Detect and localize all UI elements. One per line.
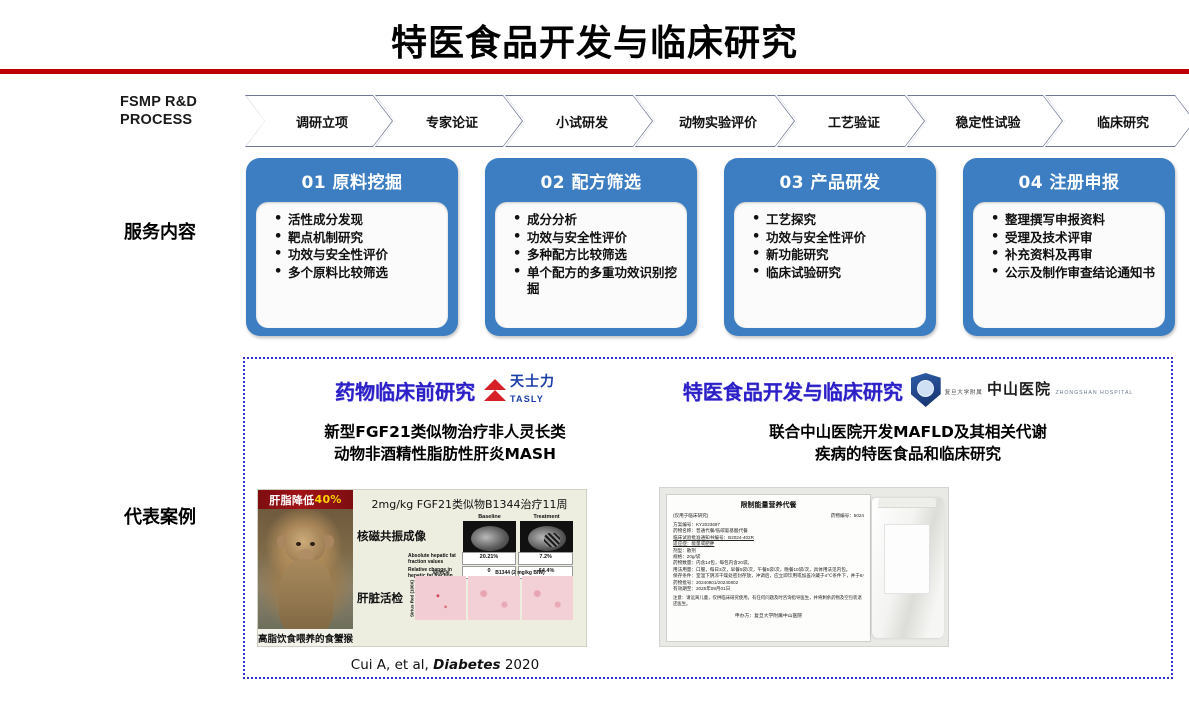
services-label: 服务内容: [124, 218, 196, 244]
histology-treated-2: [522, 576, 573, 620]
list-item: 补充资料及再审: [995, 247, 1159, 264]
pouch-label: [884, 524, 930, 594]
list-item: 受理及技术评审: [995, 230, 1159, 247]
slide-root: 特医食品开发与临床研究 FSMP R&D PROCESS 调研立项 专家论证 小…: [0, 0, 1189, 707]
case-left-figure[interactable]: 肝脂降低40% 高脂饮食喂养的食蟹猴 2mg/kg FGF21类似物B1344治…: [257, 489, 587, 647]
case-left-citation: Cui A, et al, Diabetes 2020: [245, 657, 645, 673]
monkey-photo-panel: 肝脂降低40% 高脂饮食喂养的食蟹猴: [258, 490, 353, 646]
list-item: 多个原料比较筛选: [278, 265, 442, 282]
biopsy-row-label: 肝脏活检: [357, 590, 403, 606]
service-card-title: 02 配方筛选: [485, 168, 697, 193]
case-right-header: 特医食品开发与临床研究 复旦大学附属 中山医院 ZHONGSHAN HOSPIT…: [645, 369, 1171, 411]
service-card-title: 01 原料挖掘: [246, 168, 458, 193]
process-step-2[interactable]: 专家论证: [375, 95, 523, 147]
histology-vehicle: [415, 576, 466, 620]
tasly-logo-en: TASLY: [510, 394, 544, 404]
process-step-label: 小试研发: [505, 95, 653, 147]
document-right-note: 药物编号：5024: [831, 513, 864, 519]
hospital-name-en: ZHONGSHAN HOSPITAL: [1055, 390, 1133, 396]
process-step-6[interactable]: 稳定性试验: [907, 95, 1063, 147]
row-label: Absolute hepatic fat fraction values: [408, 552, 460, 565]
banner-percent: 40%: [314, 493, 341, 506]
list-item: 多种配方比较筛选: [517, 247, 681, 264]
service-card-04[interactable]: 04 注册申报 整理撰写申报资料 受理及技术评审 补充资料及再审 公示及制作审查…: [963, 158, 1175, 336]
list-item: 成分分析: [517, 212, 681, 229]
zhongshan-hospital-logo: 复旦大学附属 中山医院 ZHONGSHAN HOSPITAL: [911, 373, 1134, 407]
case-right-subtitle-line2: 疾病的特医食品和临床研究: [653, 443, 1163, 465]
citation-journal: Diabetes: [433, 657, 500, 673]
process-step-5[interactable]: 工艺验证: [777, 95, 925, 147]
service-card-03[interactable]: 03 产品研发 工艺探究 功效与安全性评价 新功能研究 临床试验研究: [724, 158, 936, 336]
service-card-body: 工艺探究 功效与安全性评价 新功能研究 临床试验研究: [734, 202, 926, 328]
mri-biopsy-panel: 2mg/kg FGF21类似物B1344治疗11周 核磁共振成像 肝脏活检 Ba…: [353, 490, 586, 646]
document-line: 有效期至：2025年08月01日: [673, 586, 864, 592]
list-item: 工艺探究: [756, 212, 920, 229]
process-step-label: 专家论证: [375, 95, 523, 147]
process-step-label: 调研立项: [245, 95, 393, 147]
photo-caption: 高脂饮食喂养的食蟹猴: [258, 629, 353, 646]
document-line: 保存条件：室温下阴凉干燥处密封存放，冲调后，应立即饮用或加盖冷藏于4℃条件下，并…: [673, 573, 864, 579]
mri-header-baseline: Baseline: [463, 514, 516, 520]
histology-images: [415, 576, 573, 620]
case-left-subtitle: 新型FGF21类似物治疗非人灵长类 动物非酒精性脂肪性肝炎MASH: [253, 421, 637, 465]
service-card-title: 04 注册申报: [963, 168, 1175, 193]
document-title: 限制能量营养代餐: [673, 500, 864, 510]
case-right-subtitle: 联合中山医院开发MAFLD及其相关代谢 疾病的特医食品和临床研究: [653, 421, 1163, 465]
cases-label: 代表案例: [124, 503, 196, 529]
mri-row-label: 核磁共振成像: [357, 528, 426, 544]
shield-icon: [911, 373, 941, 407]
case-left: 药物临床前研究 天士力 TASLY 新型FGF21类似物治疗非人灵长类 动物非酒…: [245, 359, 645, 681]
service-card-01[interactable]: 01 原料挖掘 活性成分发现 靶点机制研究 功效与安全性评价 多个原料比较筛选: [246, 158, 458, 336]
banner-text: 肝脂降低: [269, 492, 314, 508]
list-item: 公示及制作审查结论通知书: [995, 265, 1159, 282]
process-step-label: 动物实验评价: [635, 95, 795, 147]
document-left-note: (仅用于临床研究): [673, 513, 708, 519]
list-item: 单个配方的多重功效识别挖掘: [517, 265, 681, 298]
list-item: 新功能研究: [756, 247, 920, 264]
tasly-triangle-icon: [483, 379, 507, 401]
service-card-title: 03 产品研发: [724, 168, 936, 193]
process-label-line1: FSMP R&D: [120, 93, 250, 111]
service-cards: 01 原料挖掘 活性成分发现 靶点机制研究 功效与安全性评价 多个原料比较筛选 …: [246, 158, 1176, 336]
case-right-heading: 特医食品开发与临床研究: [683, 376, 903, 405]
process-flow: 调研立项 专家论证 小试研发 动物实验评价 工艺验证 稳定性试验: [245, 95, 1175, 147]
tasly-logo: 天士力 TASLY: [483, 374, 555, 406]
product-label-document: 限制能量营养代餐 (仅用于临床研究) 药物编号：5024 方案编号：KY2023…: [666, 494, 871, 642]
list-item: 功效与安全性评价: [517, 230, 681, 247]
document-warning: 注意：请远离儿童，仅供临床研究使用。有任何问题及时咨询指导医生，并将剩余药物及空…: [673, 595, 864, 607]
cell-treatment: 7.2%: [518, 552, 573, 565]
list-item: 整理撰写申报资料: [995, 212, 1159, 229]
service-card-02[interactable]: 02 配方筛选 成分分析 功效与安全性评价 多种配方比较筛选 单个配方的多重功效…: [485, 158, 697, 336]
citation-prefix: Cui A, et al,: [351, 657, 433, 673]
fat-reduction-banner: 肝脂降低40%: [258, 490, 353, 509]
hospital-name-cn: 中山医院: [987, 380, 1051, 398]
process-step-7[interactable]: 临床研究: [1045, 95, 1189, 147]
process-label-line2: PROCESS: [120, 111, 250, 129]
service-card-body: 成分分析 功效与安全性评价 多种配方比较筛选 单个配方的多重功效识别挖掘: [495, 202, 687, 328]
macaque-photo: [258, 509, 353, 629]
list-item: 靶点机制研究: [278, 230, 442, 247]
product-pouch-photo: [872, 498, 944, 638]
table-row: Absolute hepatic fat fraction values 20.…: [408, 552, 573, 565]
list-item: 功效与安全性评价: [756, 230, 920, 247]
figure-title: 2mg/kg FGF21类似物B1344治疗11周: [357, 496, 582, 512]
mri-header-treatment: Treatment: [520, 514, 573, 520]
process-step-4[interactable]: 动物实验评价: [635, 95, 795, 147]
process-step-3[interactable]: 小试研发: [505, 95, 653, 147]
cases-panel: 药物临床前研究 天士力 TASLY 新型FGF21类似物治疗非人灵长类 动物非酒…: [243, 357, 1173, 679]
case-right-figure[interactable]: 限制能量营养代餐 (仅用于临床研究) 药物编号：5024 方案编号：KY2023…: [659, 487, 949, 647]
service-card-body: 活性成分发现 靶点机制研究 功效与安全性评价 多个原料比较筛选: [256, 202, 448, 328]
page-title: 特医食品开发与临床研究: [0, 14, 1189, 66]
case-right: 特医食品开发与临床研究 复旦大学附属 中山医院 ZHONGSHAN HOSPIT…: [645, 359, 1171, 681]
histology-treated-1: [468, 576, 519, 620]
process-step-label: 工艺验证: [777, 95, 925, 147]
mri-scan-baseline: [463, 521, 516, 555]
citation-year: 2020: [505, 657, 539, 673]
case-left-header: 药物临床前研究 天士力 TASLY: [245, 369, 645, 411]
document-footer: 申办方：复旦大学附属中山医院: [673, 612, 864, 619]
list-item: 活性成分发现: [278, 212, 442, 229]
case-left-subtitle-line2: 动物非酒精性脂肪性肝炎MASH: [253, 443, 637, 465]
service-card-body: 整理撰写申报资料 受理及技术评审 补充资料及再审 公示及制作审查结论通知书: [973, 202, 1165, 328]
tasly-logo-cn: 天士力: [510, 374, 555, 390]
process-label: FSMP R&D PROCESS: [120, 93, 250, 129]
case-right-subtitle-line1: 联合中山医院开发MAFLD及其相关代谢: [653, 421, 1163, 443]
title-divider: [0, 69, 1189, 74]
case-left-heading: 药物临床前研究: [335, 376, 475, 405]
case-left-subtitle-line1: 新型FGF21类似物治疗非人灵长类: [253, 421, 637, 443]
list-item: 临床试验研究: [756, 265, 920, 282]
process-step-label: 临床研究: [1045, 95, 1189, 147]
cell-baseline: 20.21%: [462, 552, 517, 565]
list-item: 功效与安全性评价: [278, 247, 442, 264]
mri-scan-treatment: [520, 521, 573, 555]
process-step-1[interactable]: 调研立项: [245, 95, 393, 147]
mri-images: Baseline Treatment: [463, 514, 573, 555]
process-step-label: 稳定性试验: [907, 95, 1063, 147]
hospital-affiliation: 复旦大学附属: [945, 390, 983, 396]
